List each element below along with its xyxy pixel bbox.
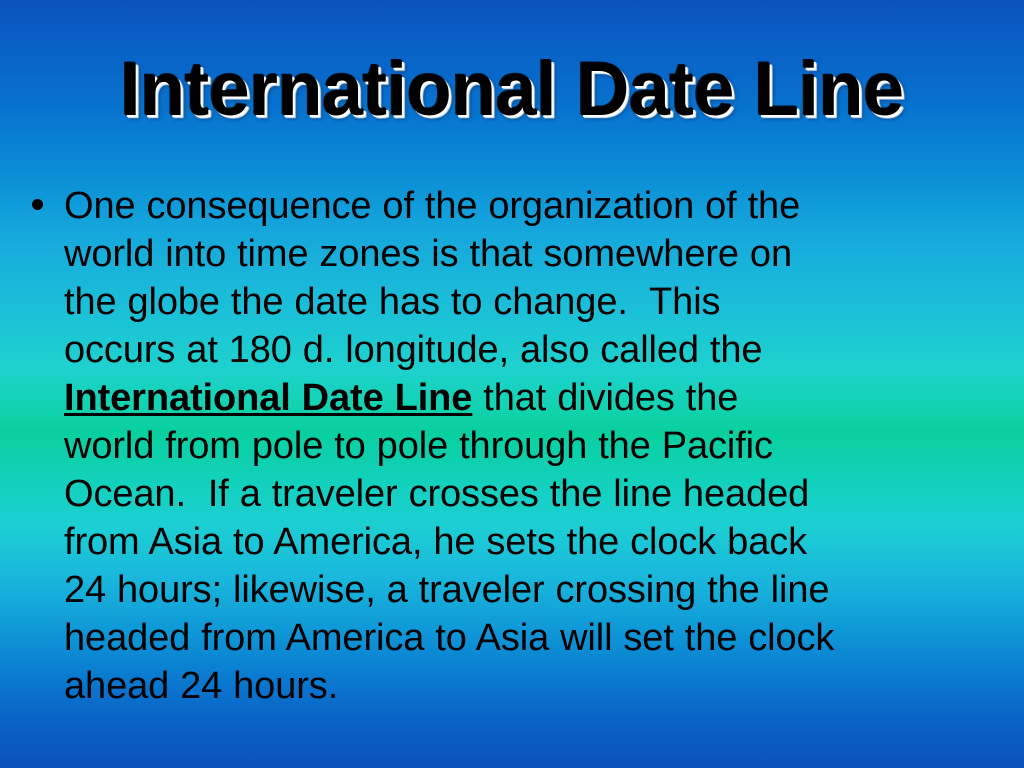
text-line-1: One consequence of the organization of t…	[64, 182, 1008, 230]
list-item: One consequence of the organization of t…	[24, 182, 1008, 710]
text-line-8: from Asia to America, he sets the clock …	[64, 518, 1008, 566]
emphasized-term: International Date Line	[64, 377, 472, 419]
body-content: One consequence of the organization of t…	[24, 182, 1008, 710]
text-line-3: the globe the date has to change. This	[64, 278, 1008, 326]
text-line-4: occurs at 180 d. longitude, also called …	[64, 326, 1008, 374]
text-line-5-rest: that divides the	[472, 377, 738, 419]
page-title: International Date Line	[120, 48, 904, 132]
slide-canvas: International Date Line One consequence …	[0, 0, 1024, 768]
text-line-11: ahead 24 hours.	[64, 662, 1008, 710]
text-line-6: world from pole to pole through the Paci…	[64, 422, 1008, 470]
text-line-5: International Date Line that divides the	[64, 374, 1008, 422]
text-line-9: 24 hours; likewise, a traveler crossing …	[64, 566, 1008, 614]
text-line-10: headed from America to Asia will set the…	[64, 614, 1008, 662]
title-container: International Date Line	[0, 48, 1024, 132]
text-line-7: Ocean. If a traveler crosses the line he…	[64, 470, 1008, 518]
bullet-paragraph: One consequence of the organization of t…	[64, 182, 1008, 710]
bullet-point-icon	[32, 199, 43, 210]
text-line-2: world into time zones is that somewhere …	[64, 230, 1008, 278]
